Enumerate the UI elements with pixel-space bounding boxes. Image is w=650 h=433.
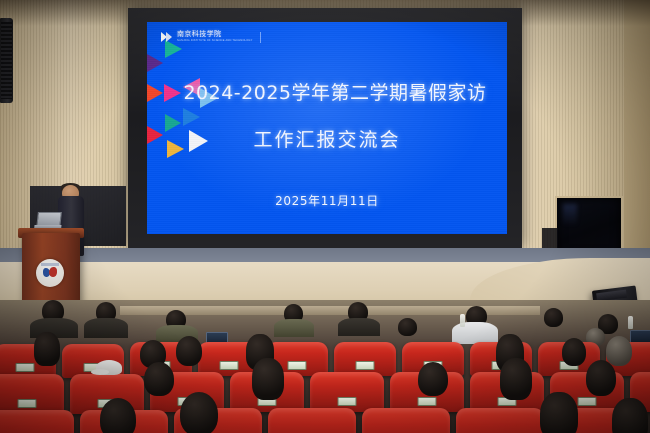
audience-head bbox=[176, 336, 202, 366]
audience-head bbox=[398, 318, 417, 336]
slide-date: 2025年11月11日 bbox=[147, 192, 507, 209]
audience-head bbox=[612, 398, 648, 433]
audience-head bbox=[418, 362, 448, 396]
water-bottle bbox=[628, 316, 633, 329]
audience-head bbox=[540, 392, 578, 433]
audience-head bbox=[100, 398, 136, 433]
speaker-grill bbox=[1, 22, 12, 99]
audience-head bbox=[144, 362, 174, 396]
emblem-arc bbox=[41, 263, 59, 266]
slide-title-line1: 2024-2025学年第二学期暑假家访 bbox=[155, 78, 507, 105]
audience-head bbox=[34, 332, 60, 366]
logo-name: 南京科技学院 bbox=[177, 31, 253, 39]
auditorium-seat[interactable] bbox=[0, 374, 64, 414]
auditorium-seat[interactable] bbox=[310, 372, 384, 412]
auditorium-seat[interactable] bbox=[0, 410, 74, 433]
slide-title-line2: 工作汇报交流会 bbox=[147, 125, 507, 152]
audience-head bbox=[562, 338, 586, 366]
audience-area bbox=[0, 300, 650, 433]
audience-head bbox=[544, 308, 563, 327]
audience-head bbox=[500, 358, 532, 400]
wall-speaker-icon bbox=[0, 18, 13, 103]
panel-glint bbox=[563, 204, 577, 226]
university-crest-emblem bbox=[36, 259, 64, 287]
logo-divider bbox=[260, 32, 261, 43]
institution-logo: 南京科技学院 NANJING INSTITUTE OF SCIENCE AND … bbox=[161, 31, 261, 43]
emblem-shape-red bbox=[49, 267, 57, 277]
double-chevron-logo-icon bbox=[161, 31, 173, 43]
audience-shoulder bbox=[338, 318, 380, 336]
triangle-purple-icon bbox=[147, 54, 163, 72]
water-bottle bbox=[460, 314, 465, 327]
auditorium-seat[interactable] bbox=[334, 342, 396, 376]
auditorium-seat[interactable] bbox=[362, 408, 450, 433]
auditorium-seat[interactable] bbox=[268, 408, 356, 433]
podium-laptop bbox=[36, 212, 64, 229]
audience-head bbox=[586, 360, 616, 396]
auditorium-photo: 南京科技学院 NANJING INSTITUTE OF SCIENCE AND … bbox=[0, 0, 650, 433]
audience-shoulder bbox=[274, 319, 314, 337]
presentation-screen: 南京科技学院 NANJING INSTITUTE OF SCIENCE AND … bbox=[147, 22, 507, 234]
audience-shoulder bbox=[452, 322, 498, 344]
auditorium-seat[interactable] bbox=[456, 408, 544, 433]
white-cap bbox=[96, 360, 122, 375]
audience-head bbox=[252, 358, 284, 400]
audience-head bbox=[180, 392, 218, 433]
logo-subtitle: NANJING INSTITUTE OF SCIENCE AND TECHNOL… bbox=[177, 39, 253, 43]
audience-head bbox=[606, 336, 632, 366]
audience-shoulder bbox=[84, 318, 128, 338]
triangle-blue-icon bbox=[183, 108, 200, 126]
